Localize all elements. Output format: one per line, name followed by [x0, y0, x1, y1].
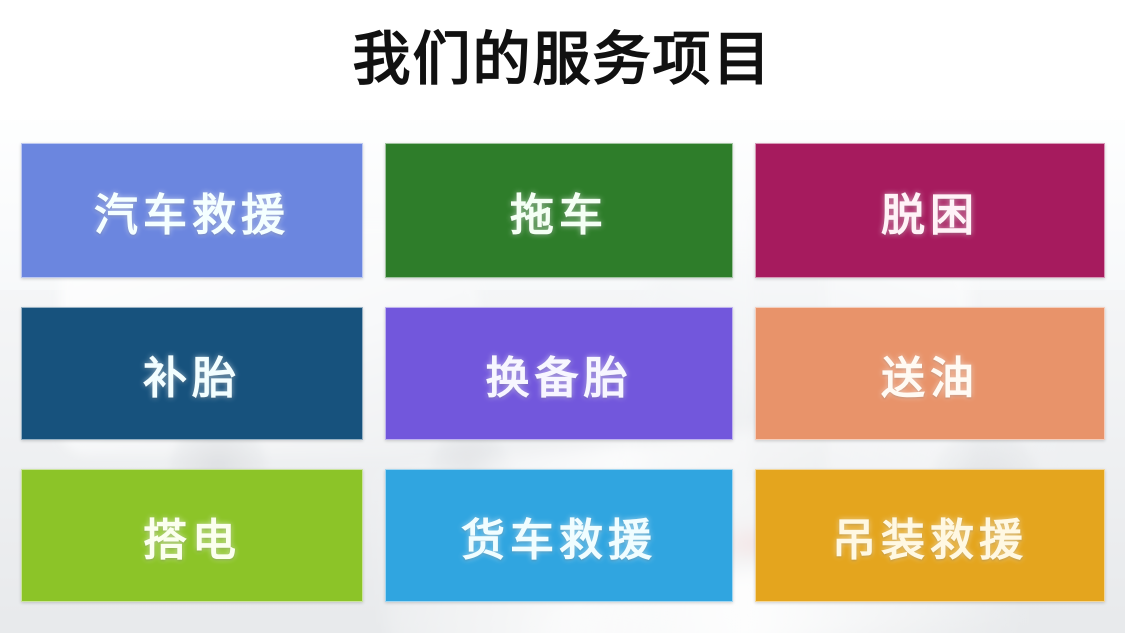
service-tile-tire-repair[interactable]: 补胎	[21, 307, 363, 440]
service-tile-label: 送油	[881, 342, 979, 406]
service-tile-car-rescue[interactable]: 汽车救援	[21, 143, 363, 278]
service-tile-grid: 汽车救援 拖车 脱困 补胎 换备胎 送油 搭电 货车救援 吊装救援	[21, 143, 1105, 602]
page-title: 我们的服务项目	[352, 31, 772, 89]
service-tile-label: 搭电	[143, 504, 241, 568]
service-tile-truck-rescue[interactable]: 货车救援	[385, 469, 733, 602]
service-tile-tow-truck[interactable]: 拖车	[385, 143, 733, 278]
service-tile-label: 货车救援	[461, 504, 657, 568]
service-tile-label: 吊装救援	[832, 504, 1028, 568]
service-tile-extrication[interactable]: 脱困	[755, 143, 1105, 278]
service-tile-label: 汽车救援	[94, 179, 290, 243]
title-band: 我们的服务项目	[0, 0, 1125, 120]
service-tile-label: 换备胎	[486, 342, 633, 406]
service-tile-hoisting-rescue[interactable]: 吊装救援	[755, 469, 1105, 602]
service-tile-label: 脱困	[881, 179, 979, 243]
service-tile-label: 拖车	[510, 179, 608, 243]
service-tile-jump-start[interactable]: 搭电	[21, 469, 363, 602]
service-tile-spare-tire-change[interactable]: 换备胎	[385, 307, 733, 440]
service-poster: 我们的服务项目 汽车救援 拖车 脱困 补胎 换备胎 送油 搭电 货车救援 吊装救…	[0, 0, 1125, 633]
service-tile-label: 补胎	[143, 342, 241, 406]
service-tile-fuel-delivery[interactable]: 送油	[755, 307, 1105, 440]
